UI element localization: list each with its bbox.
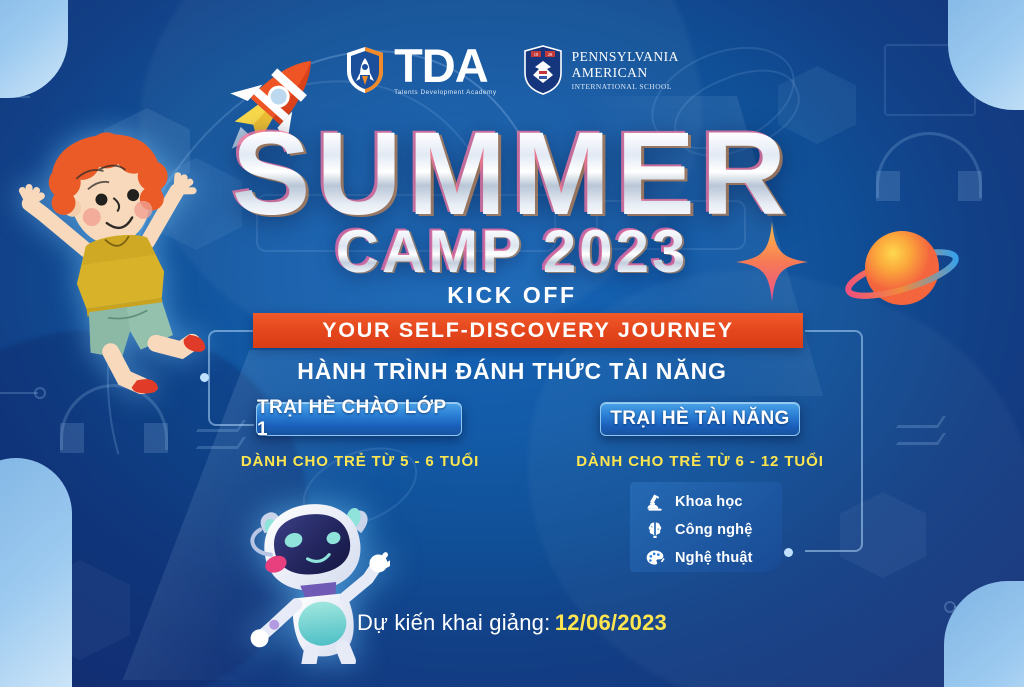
pais-line-3: INTERNATIONAL SCHOOL <box>572 83 679 92</box>
vietnamese-subtitle: HÀNH TRÌNH ĐÁNH THỨC TÀI NĂNG <box>0 358 1024 385</box>
svg-text:28: 28 <box>547 52 552 57</box>
tagline-banner-text: YOUR SELF-DISCOVERY JOURNEY <box>322 318 733 343</box>
tda-logo: TDA Talents Development Academy <box>345 44 497 96</box>
pais-line-2: AMERICAN <box>572 65 679 81</box>
program-button-2-label: TRẠI HÈ TÀI NĂNG <box>610 408 790 430</box>
connector-dot <box>784 548 793 557</box>
topic-label-science: Khoa học <box>675 494 743 510</box>
summer-camp-poster: TDA Talents Development Academy 18 28 <box>0 0 1024 687</box>
program-2-age-text: DÀNH CHO TRẺ TỪ 6 - 12 TUỔI <box>572 453 828 470</box>
rocket-shield-icon <box>345 46 385 94</box>
palette-icon <box>644 547 666 569</box>
topic-label-technology: Công nghệ <box>675 522 753 538</box>
start-date-line: Dự kiến khai giảng: 12/06/2023 <box>0 610 1024 636</box>
topic-label-art: Nghệ thuật <box>675 550 753 566</box>
tda-wordmark: TDA <box>394 44 488 87</box>
tda-text-block: TDA Talents Development Academy <box>394 44 497 96</box>
tda-tagline: Talents Development Academy <box>394 89 497 96</box>
headline-title-wrap: SUMMER <box>0 115 1024 233</box>
program-button-1[interactable]: TRẠI HÈ CHÀO LỚP 1 <box>256 402 462 436</box>
program-1-age-text: DÀNH CHO TRẺ TỪ 5 - 6 TUỔI <box>240 453 480 470</box>
program-button-1-label: TRẠI HÈ CHÀO LỚP 1 <box>257 397 461 441</box>
tagline-banner: YOUR SELF-DISCOVERY JOURNEY <box>253 313 803 348</box>
eagle-crest-icon: 18 28 <box>523 45 563 95</box>
pais-text-block: PENNSYLVANIA AMERICAN INTERNATIONAL SCHO… <box>572 49 679 92</box>
topic-item-science: Khoa học <box>644 489 782 514</box>
headline-subtitle-wrap: CAMP 2023 <box>0 222 1024 282</box>
topics-box: Khoa học Công nghệ <box>630 482 782 572</box>
program-button-2[interactable]: TRẠI HÈ TÀI NĂNG <box>600 402 800 436</box>
start-date-value: 12/06/2023 <box>555 610 667 635</box>
pais-logo: 18 28 PENNSYLVANIA AMERICAN INTERNATIONA… <box>523 45 679 95</box>
topic-item-technology: Công nghệ <box>644 517 782 542</box>
kicker-text: KICK OFF <box>0 282 1024 309</box>
pais-line-1: PENNSYLVANIA <box>572 49 679 65</box>
topic-item-art: Nghệ thuật <box>644 545 782 570</box>
start-date-label: Dự kiến khai giảng: <box>357 610 550 635</box>
brain-chip-icon <box>644 519 666 541</box>
microscope-icon <box>644 491 666 513</box>
headline-subtitle: CAMP 2023 <box>336 222 689 282</box>
headline-title: SUMMER <box>232 115 792 233</box>
logo-row: TDA Talents Development Academy 18 28 <box>0 44 1024 96</box>
svg-text:18: 18 <box>533 52 538 57</box>
